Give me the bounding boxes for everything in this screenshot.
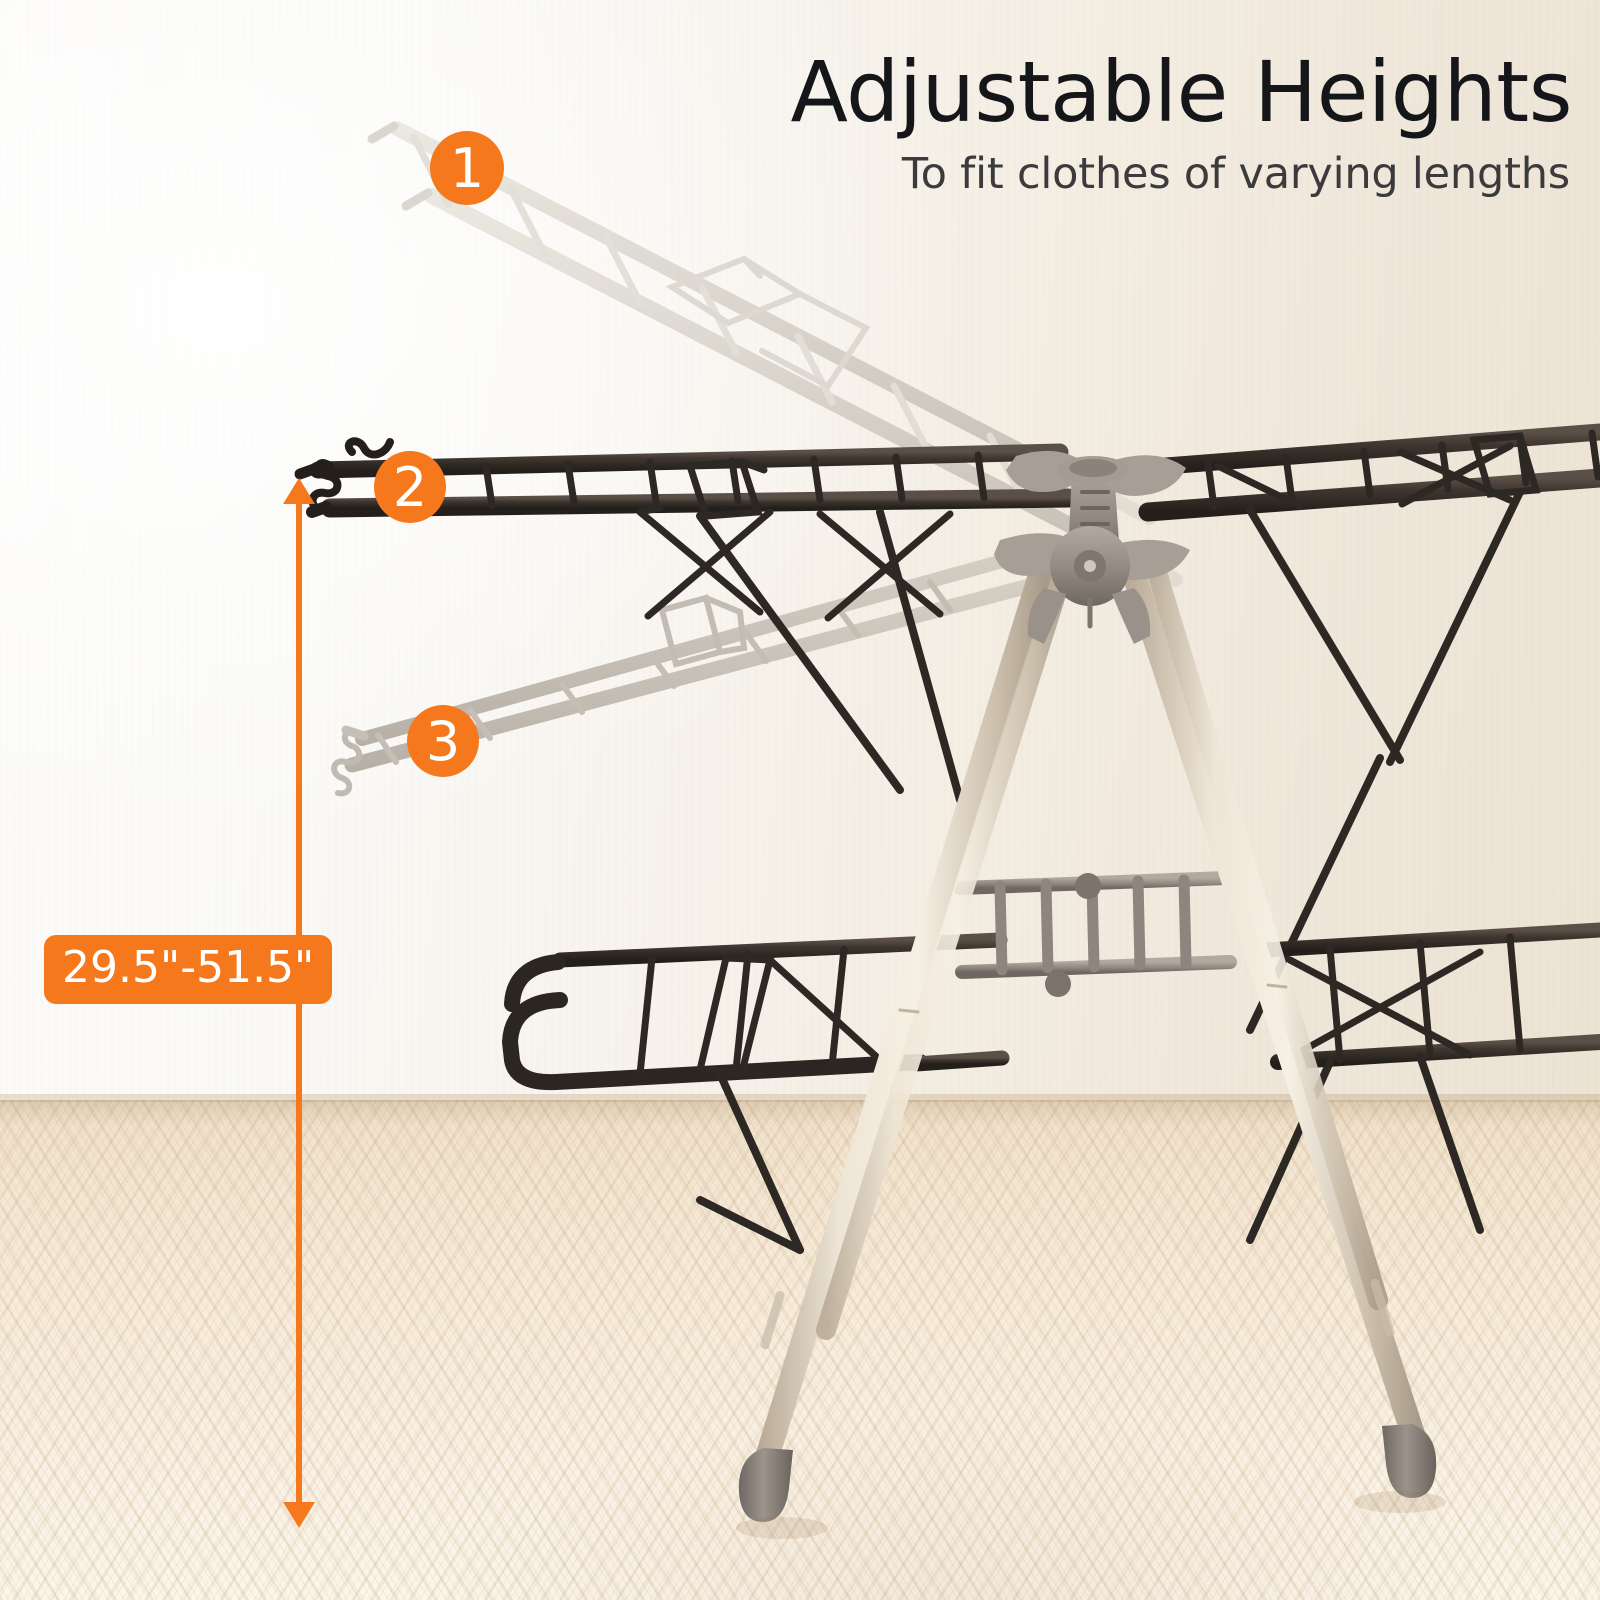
product-infographic: Adjustable Heights To fit clothes of var…	[0, 0, 1600, 1600]
foot-left	[739, 1448, 793, 1522]
drying-rack	[0, 0, 1600, 1600]
center-sock-shelf	[960, 873, 1230, 997]
height-range-badge: 29.5"-51.5"	[44, 935, 332, 1004]
dimension-line	[296, 497, 302, 1513]
arrow-down-icon	[283, 1502, 315, 1528]
callout-badge-3[interactable]: 3	[407, 705, 479, 777]
callout-badge-1[interactable]: 1	[430, 131, 504, 205]
foot-right	[1382, 1424, 1436, 1498]
callout-badge-2[interactable]: 2	[374, 451, 446, 523]
